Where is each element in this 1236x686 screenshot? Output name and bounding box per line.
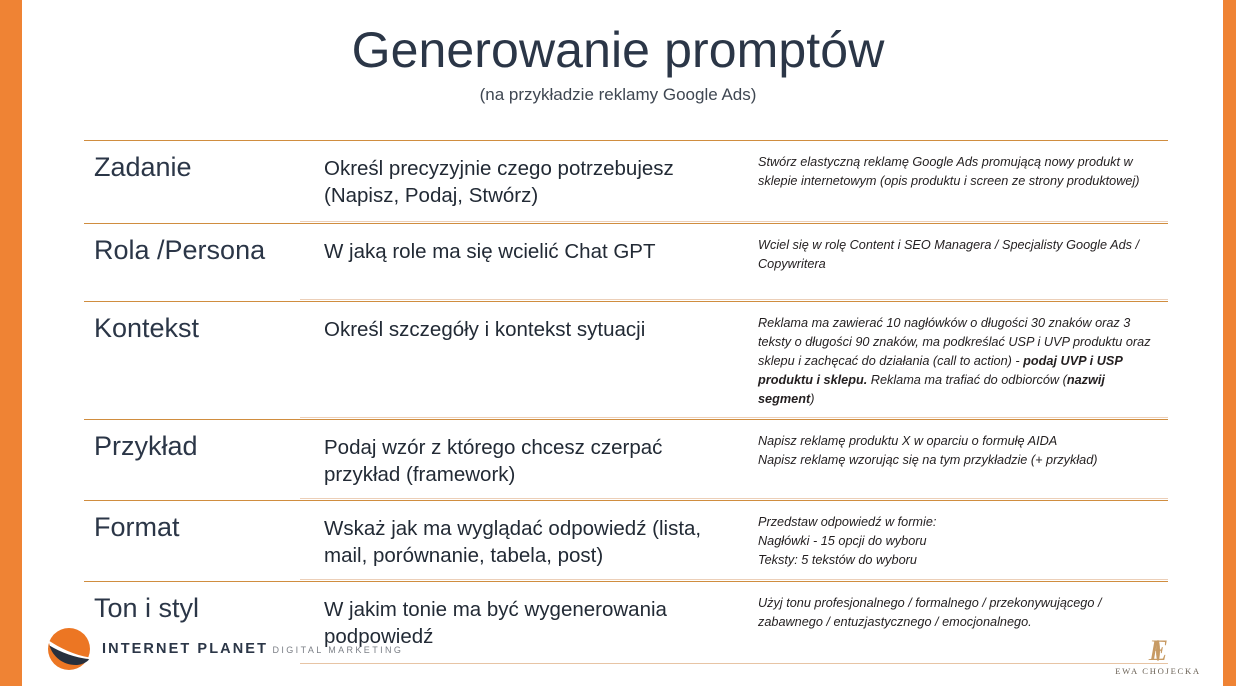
planet-icon <box>46 626 92 672</box>
row-example: Użyj tonu profesjonalnego / formalnego /… <box>752 582 1168 642</box>
row-label: Rola /Persona <box>84 224 324 277</box>
example-line: Napisz reklamę produktu X w oparciu o fo… <box>758 432 1158 451</box>
title-block: Generowanie promptów (na przykładzie rek… <box>0 22 1236 105</box>
internet-planet-logo: INTERNET PLANET DIGITAL MARKETING <box>46 626 403 672</box>
example-line: Przedstaw odpowiedź w formie: <box>758 513 1158 532</box>
example-line: Użyj tonu profesjonalnego / formalnego /… <box>758 594 1158 632</box>
page-subtitle: (na przykładzie reklamy Google Ads) <box>0 85 1236 105</box>
ewa-chojecka-name: EWA CHOJECKA <box>1110 666 1206 676</box>
example-line: Nagłówki - 15 opcji do wyboru <box>758 532 1158 551</box>
table-row: Rola /PersonaW jaką role ma się wcielić … <box>84 223 1168 301</box>
row-label: Kontekst <box>84 302 324 355</box>
example-line: Reklama ma zawierać 10 nagłówków o długo… <box>758 314 1158 409</box>
row-example: Stwórz elastyczną reklamę Google Ads pro… <box>752 141 1168 201</box>
row-prompt-instruction: W jaką role ma się wcielić Chat GPT <box>324 224 752 277</box>
row-label: Format <box>84 501 324 554</box>
ewa-chojecka-logo: E EWA CHOJECKA <box>1110 642 1206 676</box>
table-row: KontekstOkreśl szczegóły i kontekst sytu… <box>84 301 1168 419</box>
slide: Generowanie promptów (na przykładzie rek… <box>0 0 1236 686</box>
table-row: ZadanieOkreśl precyzyjnie czego potrzebu… <box>84 140 1168 223</box>
row-label: Zadanie <box>84 141 324 194</box>
table-row: PrzykładPodaj wzór z którego chcesz czer… <box>84 419 1168 500</box>
row-label: Przykład <box>84 420 324 473</box>
table-row: FormatWskaż jak ma wyglądać odpowiedź (l… <box>84 500 1168 581</box>
row-prompt-instruction: Określ precyzyjnie czego potrzebujesz (N… <box>324 141 752 221</box>
example-line: Teksty: 5 tekstów do wyboru <box>758 551 1158 570</box>
internet-planet-tagline: DIGITAL MARKETING <box>272 645 403 655</box>
example-line: Napisz reklamę wzorując się na tym przyk… <box>758 451 1158 470</box>
row-example: Napisz reklamę produktu X w oparciu o fo… <box>752 420 1168 480</box>
internet-planet-wordmark: INTERNET PLANET DIGITAL MARKETING <box>102 641 403 657</box>
example-line: Stwórz elastyczną reklamę Google Ads pro… <box>758 153 1158 191</box>
monogram-circle-icon: E <box>1156 640 1160 661</box>
internet-planet-name: INTERNET PLANET <box>102 641 268 657</box>
row-prompt-instruction: Podaj wzór z którego chcesz czerpać przy… <box>324 420 752 500</box>
page-title: Generowanie promptów <box>0 22 1236 78</box>
row-example: Przedstaw odpowiedź w formie:Nagłówki - … <box>752 501 1168 580</box>
row-example: Wciel się w rolę Content i SEO Managera … <box>752 224 1168 284</box>
row-example: Reklama ma zawierać 10 nagłówków o długo… <box>752 302 1168 419</box>
row-prompt-instruction: Określ szczegóły i kontekst sytuacji <box>324 302 752 355</box>
prompt-framework-table: ZadanieOkreśl precyzyjnie czego potrzebu… <box>84 140 1168 665</box>
row-prompt-instruction: Wskaż jak ma wyglądać odpowiedź (lista, … <box>324 501 752 581</box>
example-line: Wciel się w rolę Content i SEO Managera … <box>758 236 1158 274</box>
